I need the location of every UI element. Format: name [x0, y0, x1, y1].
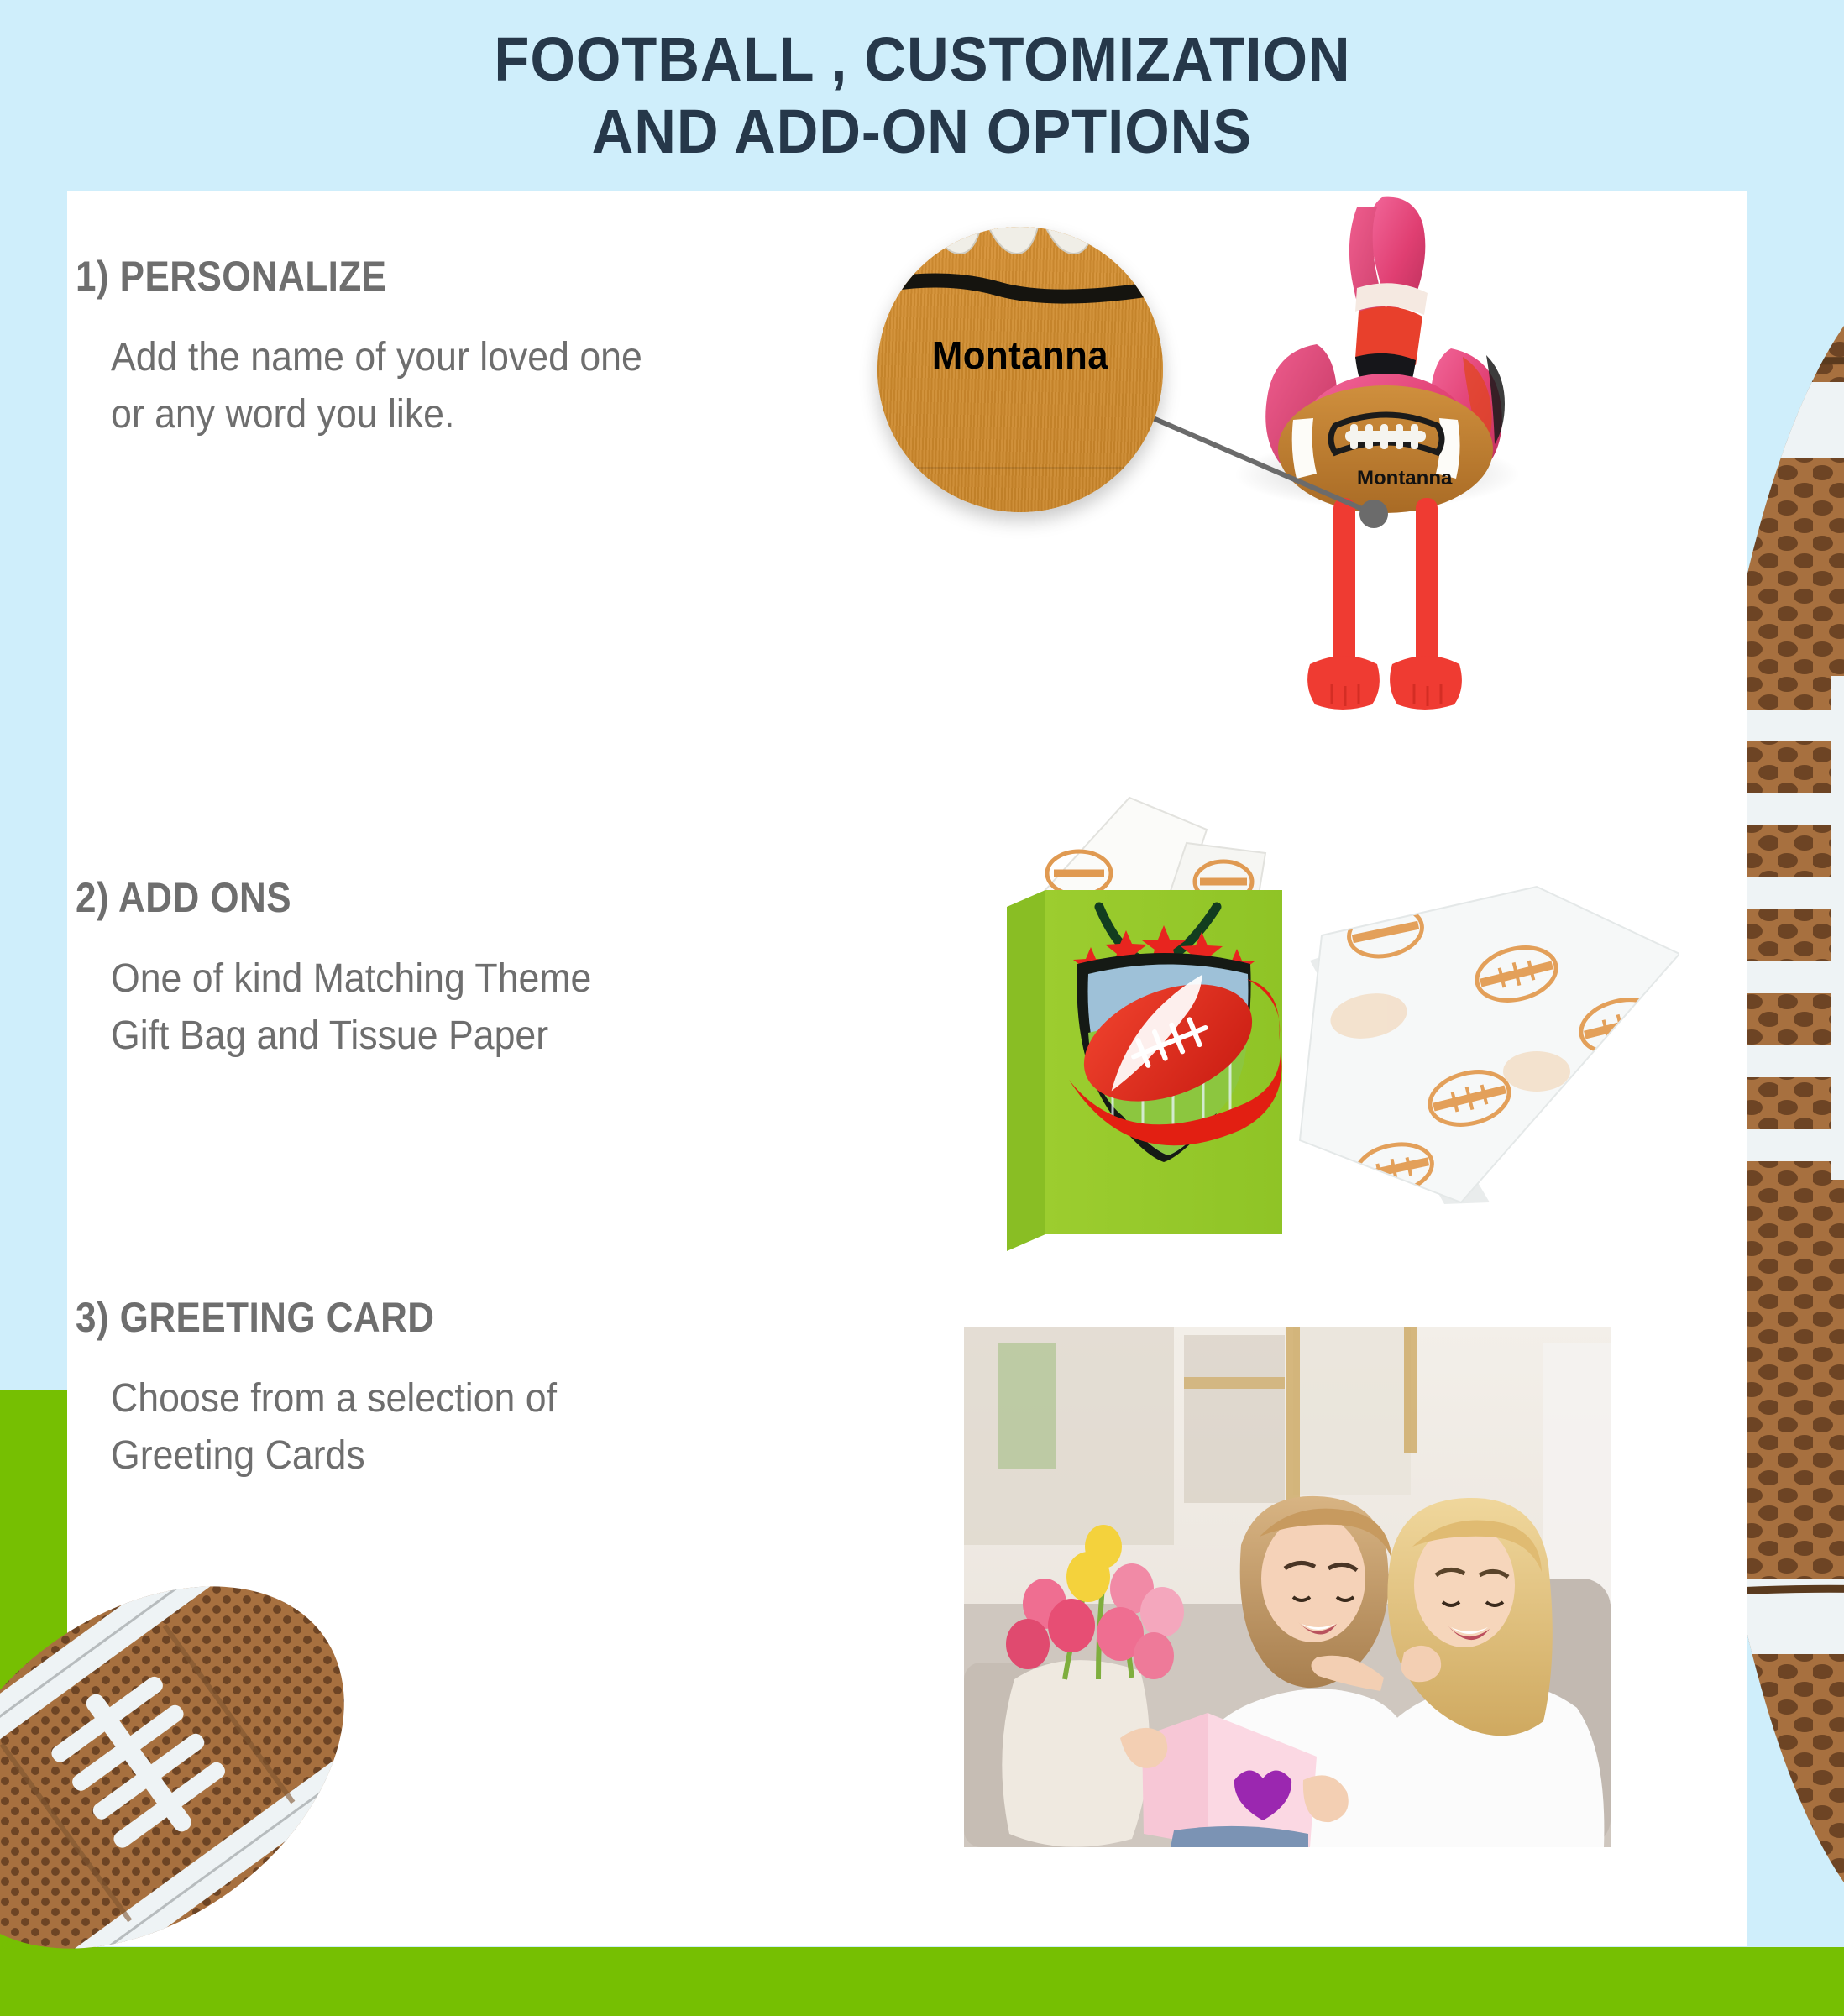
step-2-body-line-1: One of kind Matching Theme [111, 950, 859, 1008]
step-3-body: Choose from a selection of Greeting Card… [111, 1370, 859, 1485]
football-seam-line [877, 267, 1163, 309]
step-greeting-card: 3) GREETING CARD Choose from a selection… [76, 1293, 915, 1485]
page-title-line-1: FOOTBALL , CUSTOMIZATION [494, 24, 1350, 96]
step-3-heading: 3) GREETING CARD [76, 1293, 815, 1342]
step-2-body: One of kind Matching Theme Gift Bag and … [111, 950, 859, 1065]
magnifier-zoom-circle: Montanna [877, 227, 1163, 512]
step-add-ons: 2) ADD ONS One of kind Matching Theme Gi… [76, 873, 915, 1065]
step-3-body-line-2: Greeting Cards [111, 1427, 859, 1485]
magnifier-personalized-name: Montanna [885, 333, 1156, 378]
step-1-heading: 1) PERSONALIZE [76, 252, 815, 301]
step-1-body-line-2: or any word you like. [111, 386, 859, 443]
step-2-heading: 2) ADD ONS [76, 873, 815, 922]
football-bottom-seam [911, 467, 1129, 469]
step-2-body-line-2: Gift Bag and Tissue Paper [111, 1008, 859, 1065]
tissue-paper-stack [1285, 873, 1679, 1209]
gift-bag-with-tissue [970, 781, 1323, 1259]
step-1-body: Add the name of your loved one or any wo… [111, 329, 859, 443]
page-header: FOOTBALL , CUSTOMIZATION AND ADD-ON OPTI… [0, 0, 1844, 191]
step-3-body-line-1: Choose from a selection of [111, 1370, 859, 1427]
decorative-football-bottom-left [0, 1524, 353, 1961]
greeting-card-photo [964, 1327, 1611, 1847]
step-1-body-line-1: Add the name of your loved one [111, 329, 859, 386]
football-lace-icon [877, 227, 1163, 259]
page-title-line-2: AND ADD-ON OPTIONS [592, 96, 1253, 168]
step-personalize: 1) PERSONALIZE Add the name of your love… [76, 252, 915, 443]
decorative-football-right [1742, 252, 1844, 1956]
